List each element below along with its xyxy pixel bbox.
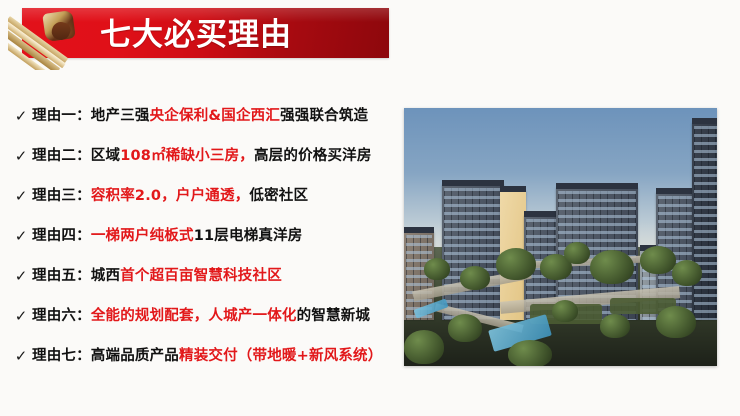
check-icon: ✓: [10, 149, 32, 164]
tree: [672, 260, 702, 286]
check-icon: ✓: [10, 309, 32, 324]
reason-text: 理由四：一梯两户纯板式11层电梯真洋房: [32, 227, 404, 245]
list-item: ✓ 理由二：区域108㎡稀缺小三房，高层的价格买洋房: [0, 136, 404, 176]
reason-lead: 理由六：: [32, 308, 91, 324]
check-icon: ✓: [10, 109, 32, 124]
tree: [600, 314, 630, 338]
tree: [404, 330, 444, 364]
list-item: ✓ 理由三：容积率2.0，户户通透，低密社区: [0, 176, 404, 216]
reason-tail: 11层电梯真洋房: [194, 228, 303, 244]
reason-highlight: 精装交付（带地暖+新风系统）: [179, 348, 382, 364]
list-item: ✓ 理由七：高端品质产品精装交付（带地暖+新风系统）: [0, 336, 404, 376]
reason-tail: 强强联合筑造: [280, 108, 368, 124]
tree: [460, 266, 490, 290]
slide-canvas: 七大必买理由 ✓ 理由一：地产三强央企保利&国企西汇强强联合筑造 ✓ 理由二：区…: [0, 0, 740, 416]
reason-text: 理由二：区域108㎡稀缺小三房，高层的价格买洋房: [32, 147, 404, 165]
check-icon: ✓: [10, 269, 32, 284]
reason-lead: 理由一：地产三强: [32, 108, 150, 124]
reason-text: 理由六：全能的规划配套，人城产一体化的智慧新城: [32, 307, 404, 325]
tree: [552, 300, 578, 322]
tree: [590, 250, 634, 284]
building-block: [692, 123, 717, 319]
reason-highlight: 全能的规划配套，人城产一体化: [91, 308, 297, 324]
reason-highlight: 一梯两户纯板式: [91, 228, 194, 244]
reason-lead: 理由二：区域: [32, 148, 120, 164]
reason-lead: 理由七：高端品质产品: [32, 348, 179, 364]
check-icon: ✓: [10, 229, 32, 244]
check-icon: ✓: [10, 349, 32, 364]
reason-text: 理由五：城西首个超百亩智慧科技社区: [32, 267, 404, 285]
reason-tail: 高层的价格买洋房: [254, 148, 372, 164]
reason-list: ✓ 理由一：地产三强央企保利&国企西汇强强联合筑造 ✓ 理由二：区域108㎡稀缺…: [0, 96, 404, 376]
reason-text: 理由三：容积率2.0，户户通透，低密社区: [32, 187, 404, 205]
tree: [508, 340, 552, 366]
reason-highlight: 央企保利&国企西汇: [150, 108, 280, 124]
page-title: 七大必买理由: [100, 18, 292, 52]
reason-highlight: 首个超百亩智慧科技社区: [120, 268, 282, 284]
tree: [564, 242, 590, 264]
residential-development-rendering: [404, 108, 717, 366]
reason-tail: 的智慧新城: [297, 308, 371, 324]
reason-text: 理由一：地产三强央企保利&国企西汇强强联合筑造: [32, 107, 404, 125]
list-item: ✓ 理由六：全能的规划配套，人城产一体化的智慧新城: [0, 296, 404, 336]
reason-tail: 低密社区: [249, 188, 308, 204]
building-block: [442, 185, 504, 319]
tree: [448, 314, 482, 342]
reason-highlight: 容积率2.0，户户通透，: [91, 188, 250, 204]
list-item: ✓ 理由五：城西首个超百亩智慧科技社区: [0, 256, 404, 296]
reason-lead: 理由四：: [32, 228, 91, 244]
title-banner: 七大必买理由: [0, 8, 389, 58]
reason-lead: 理由五：城西: [32, 268, 120, 284]
tree: [424, 258, 450, 280]
reason-lead: 理由三：: [32, 188, 91, 204]
list-item: ✓ 理由一：地产三强央企保利&国企西汇强强联合筑造: [0, 96, 404, 136]
tree: [656, 306, 696, 338]
tree: [640, 246, 676, 274]
check-icon: ✓: [10, 189, 32, 204]
tree: [496, 248, 536, 280]
reason-highlight: 108㎡稀缺小三房，: [120, 148, 254, 164]
list-item: ✓ 理由四：一梯两户纯板式11层电梯真洋房: [0, 216, 404, 256]
reason-text: 理由七：高端品质产品精装交付（带地暖+新风系统）: [32, 347, 404, 365]
